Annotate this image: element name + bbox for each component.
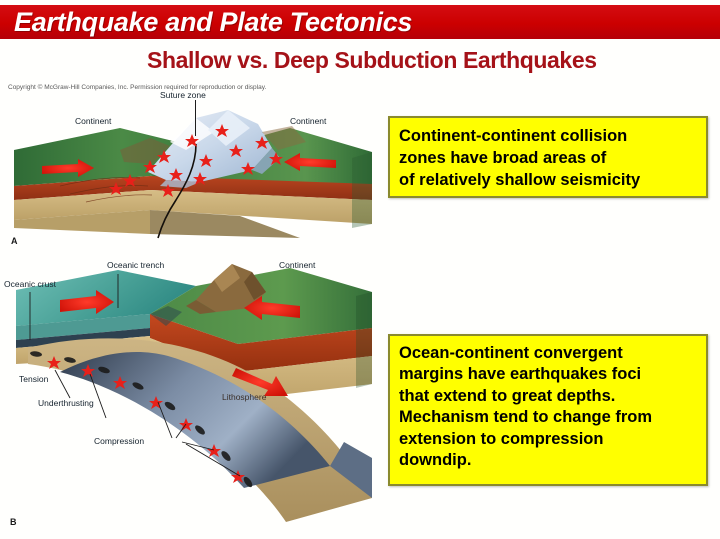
leader-suture-zone (195, 100, 196, 136)
callout-2-line-6: downdip. (399, 450, 697, 471)
label-continent-left: Continent (75, 116, 111, 126)
callout-1-line-2: zones have broad areas of (399, 148, 697, 170)
label-oceanic-crust: Oceanic crust (4, 279, 56, 289)
callout-box-shallow-seismicity: Continent-continent collision zones have… (388, 116, 708, 198)
callout-2-line-5: extension to compression (399, 429, 697, 450)
callout-1-line-3: of relatively shallow seismicity (399, 170, 697, 192)
callout-2-line-2: margins have earthquakes foci (399, 364, 697, 385)
label-lithosphere: Lithosphere (222, 392, 266, 402)
label-compression: Compression (94, 436, 144, 446)
label-underthrusting: Underthrusting (38, 398, 94, 408)
label-continent-b: Continent (279, 260, 315, 270)
callout-2-line-1: Ocean-continent convergent (399, 343, 697, 364)
callout-2-line-4: Mechanism tend to change from (399, 407, 697, 428)
diagram-continent-continent-collision: Suture zone Continent Continent (0, 88, 380, 240)
callout-1-line-1: Continent-continent collision (399, 126, 697, 148)
label-continent-right: Continent (290, 116, 326, 126)
page-title: Earthquake and Plate Tectonics (14, 7, 412, 38)
label-tension: Tension (19, 374, 48, 384)
panel-letter-b: B (10, 517, 17, 527)
diagram-ocean-continent-convergence: Oceanic crust Oceanic trench Continent T… (0, 252, 380, 527)
callout-2-line-3: that extend to great depths. (399, 386, 697, 407)
label-oceanic-trench: Oceanic trench (107, 260, 164, 270)
page-subtitle: Shallow vs. Deep Subduction Earthquakes (147, 47, 717, 74)
title-banner: Earthquake and Plate Tectonics (0, 5, 720, 39)
slide-root: Earthquake and Plate Tectonics Shallow v… (0, 0, 720, 539)
panel-letter-a: A (11, 236, 18, 246)
callout-box-deep-seismicity: Ocean-continent convergent margins have … (388, 334, 708, 486)
label-suture-zone: Suture zone (160, 90, 206, 100)
